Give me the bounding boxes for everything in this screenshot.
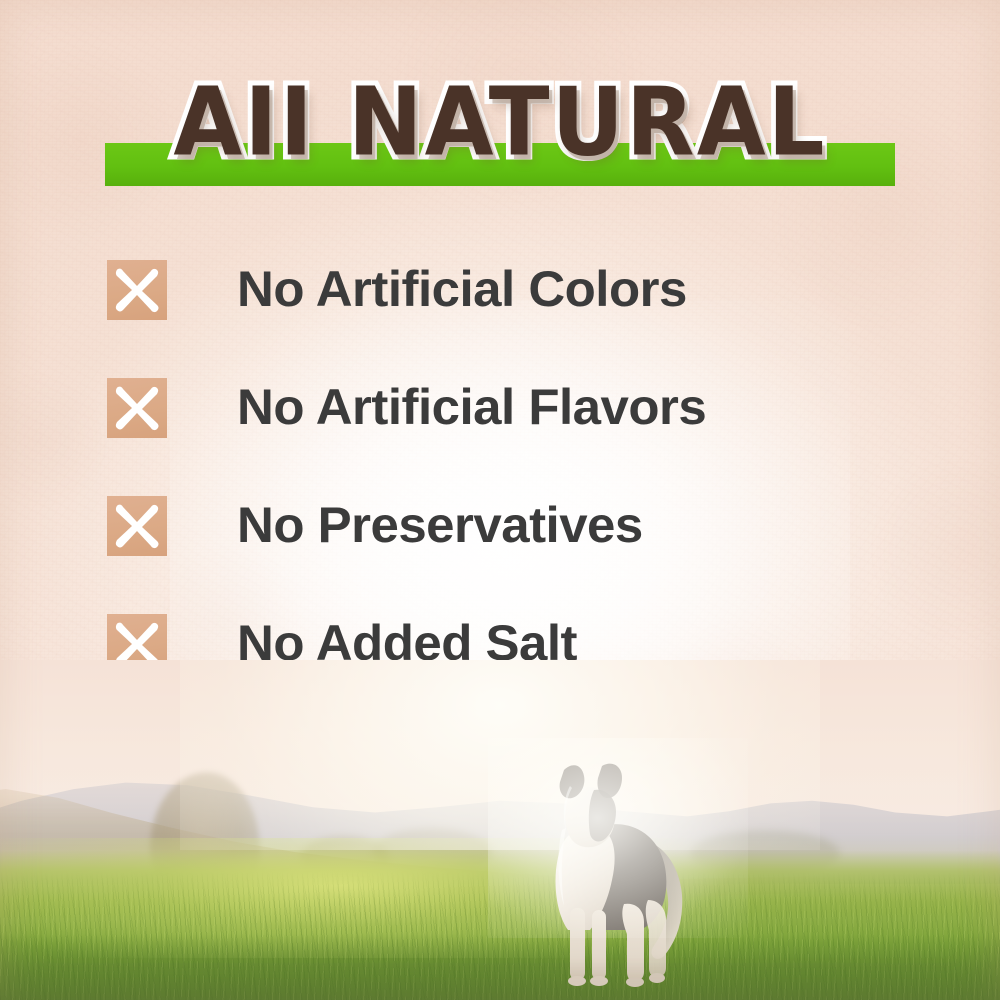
product-feature-graphic: AII NATURAL No Artificial Colors No Arti… <box>0 0 1000 1000</box>
banner-title: AII NATURAL <box>0 68 1000 176</box>
feature-list: No Artificial Colors No Artificial Flavo… <box>107 252 907 724</box>
x-mark-icon <box>107 378 167 438</box>
feature-row: No Preservatives <box>107 488 907 606</box>
grass-shadow <box>0 934 1000 1000</box>
x-mark-icon <box>107 496 167 556</box>
feature-label: No Artificial Flavors <box>237 370 706 444</box>
feature-row: No Artificial Colors <box>107 252 907 370</box>
x-mark-icon <box>107 260 167 320</box>
feature-label: No Artificial Colors <box>237 252 687 326</box>
feature-row: No Artificial Flavors <box>107 370 907 488</box>
header-banner: AII NATURAL <box>0 74 1000 194</box>
landscape-photo <box>0 660 1000 1000</box>
dog-photo <box>528 758 718 988</box>
feature-label: No Preservatives <box>237 488 643 562</box>
